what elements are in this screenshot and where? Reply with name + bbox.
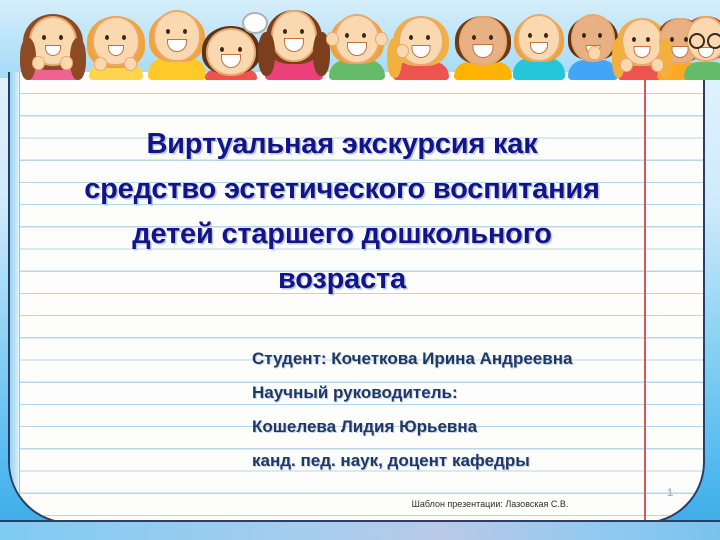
bottom-accent-bar [0, 520, 720, 540]
paint-palette-icon [242, 12, 268, 34]
subtitle-supervisor-degree: канд. пед. наук, доцент кафедры [252, 444, 652, 478]
title-line: возраста [22, 257, 662, 302]
paper-left-edge [10, 72, 20, 522]
child-figure [258, 0, 330, 80]
eye [632, 37, 636, 42]
child-figure [322, 0, 392, 80]
eye [362, 33, 366, 38]
subtitle-student: Студент: Кочеткова Ирина Андреевна [252, 342, 652, 376]
eye [238, 47, 242, 52]
subtitle-supervisor-name: Кошелева Лидия Юрьевна [252, 410, 652, 444]
face [398, 16, 444, 66]
eye [122, 35, 126, 40]
child-figure [386, 0, 456, 80]
eye [345, 33, 349, 38]
eye [59, 35, 63, 40]
slide-title: Виртуальная экскурсия как средство эстет… [22, 122, 662, 302]
hand [620, 58, 633, 72]
eye [582, 33, 586, 38]
torso [684, 62, 720, 80]
presentation-slide: Виртуальная экскурсия как средство эстет… [0, 0, 720, 540]
eye [300, 29, 304, 34]
subtitle-supervisor-label: Научный руководитель: [252, 376, 652, 410]
eye [220, 47, 224, 52]
eye [489, 35, 493, 40]
page-number: 1 [658, 487, 682, 499]
title-line: средство эстетического воспитания [22, 167, 662, 212]
torso [568, 60, 618, 80]
title-line: Виртуальная экскурсия как [22, 122, 662, 167]
hand [326, 32, 339, 46]
template-credit: Шаблон презентации: Лазовская С.В. [340, 499, 640, 509]
eye [646, 37, 650, 42]
slide-subtitle: Студент: Кочеткова Ирина Андреевна Научн… [252, 342, 652, 478]
face [459, 16, 507, 66]
eye [283, 29, 287, 34]
eye [528, 33, 532, 38]
hand [32, 56, 45, 70]
notebook-paper: Виртуальная экскурсия как средство эстет… [8, 72, 705, 524]
hand [94, 57, 107, 71]
hand [124, 57, 137, 71]
eye [684, 37, 688, 42]
eye [598, 33, 602, 38]
glasses-icon [689, 33, 720, 46]
hand [651, 58, 664, 72]
eye [105, 35, 109, 40]
eye [472, 35, 476, 40]
child-figure [18, 0, 88, 80]
child-figure [82, 0, 150, 80]
eye [670, 37, 674, 42]
hand [375, 32, 388, 46]
face [206, 28, 256, 76]
cartoon-children-banner [0, 0, 720, 80]
eye [426, 35, 430, 40]
eye [544, 33, 548, 38]
title-line: детей старшего дошкольного [22, 212, 662, 257]
hand [588, 46, 601, 60]
pigtail [258, 32, 275, 76]
eye [166, 29, 170, 34]
face [334, 14, 380, 64]
eye [409, 35, 413, 40]
eye [42, 35, 46, 40]
eye [183, 29, 187, 34]
face [271, 10, 317, 62]
face [153, 10, 201, 62]
face [517, 14, 561, 62]
hand [396, 44, 409, 58]
hand [60, 56, 73, 70]
child-figure [508, 0, 570, 80]
